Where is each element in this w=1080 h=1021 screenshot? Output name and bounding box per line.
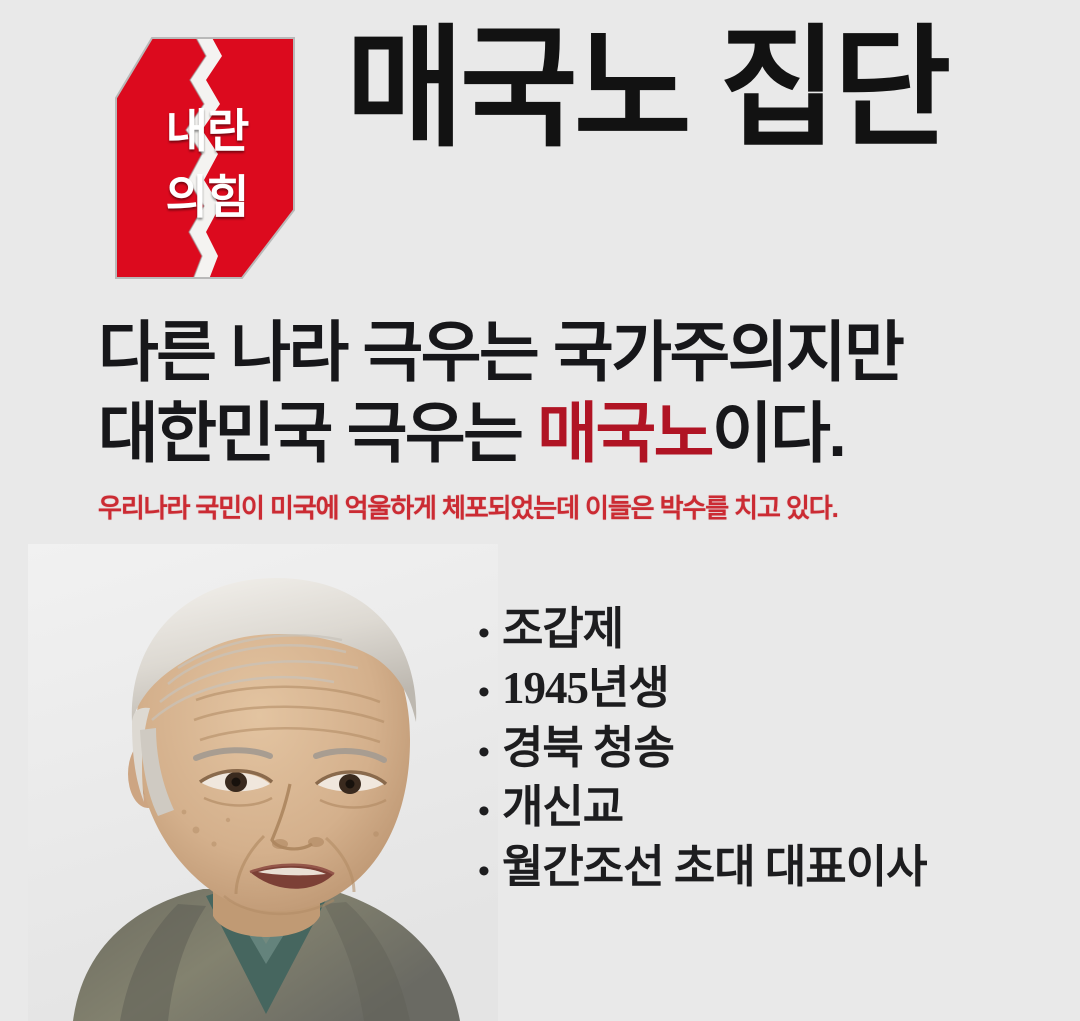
portrait-illustration bbox=[28, 544, 498, 1021]
poster-image: 내란 의힘 매국노 집단 다른 나라 극우는 국가주의지만 대한민국 극우는 매… bbox=[0, 0, 1080, 1021]
poster-header: 내란 의힘 매국노 집단 bbox=[0, 0, 1080, 300]
bullet-icon: • bbox=[478, 671, 502, 716]
statement-line-2: 대한민국 극우는 매국노이다. bbox=[98, 393, 998, 474]
bullet-icon: • bbox=[478, 790, 502, 835]
bullet-icon: • bbox=[478, 850, 502, 895]
statement-line-2-prefix: 대한민국 극우는 bbox=[98, 396, 537, 470]
bullet-icon: • bbox=[478, 612, 502, 657]
bio-list-item: • 조갑제 bbox=[478, 600, 1038, 659]
bio-item-label: 개신교 bbox=[502, 778, 623, 837]
statement-highlight-word: 매국노 bbox=[537, 396, 712, 470]
bio-item-label: 1945년생 bbox=[502, 659, 669, 718]
statement-block: 다른 나라 극우는 국가주의지만 대한민국 극우는 매국노이다. bbox=[98, 312, 998, 473]
portrait-photo bbox=[28, 544, 498, 1021]
bio-list-item: • 1945년생 bbox=[478, 659, 1038, 718]
headline-title: 매국노 집단 bbox=[346, 22, 1025, 157]
statement-line-2-suffix: 이다. bbox=[712, 396, 844, 470]
torn-party-logo-icon bbox=[94, 34, 320, 282]
statement-line-1: 다른 나라 극우는 국가주의지만 bbox=[98, 312, 998, 393]
bio-item-label: 월간조선 초대 대표이사 bbox=[502, 838, 927, 897]
bio-list-item: • 월간조선 초대 대표이사 bbox=[478, 838, 1038, 897]
bio-bullet-list: • 조갑제 • 1945년생 • 경북 청송 • 개신교 • 월간조선 초대 대… bbox=[478, 600, 1038, 897]
torn-party-logo: 내란 의힘 bbox=[94, 34, 320, 282]
bio-item-label: 경북 청송 bbox=[502, 719, 674, 778]
bullet-icon: • bbox=[478, 731, 502, 776]
bio-list-item: • 경북 청송 bbox=[478, 719, 1038, 778]
red-subtitle-caption: 우리나라 국민이 미국에 억울하게 체포되었는데 이들은 박수를 치고 있다. bbox=[98, 492, 998, 525]
bio-item-label: 조갑제 bbox=[502, 600, 623, 659]
bio-list-item: • 개신교 bbox=[478, 778, 1038, 837]
